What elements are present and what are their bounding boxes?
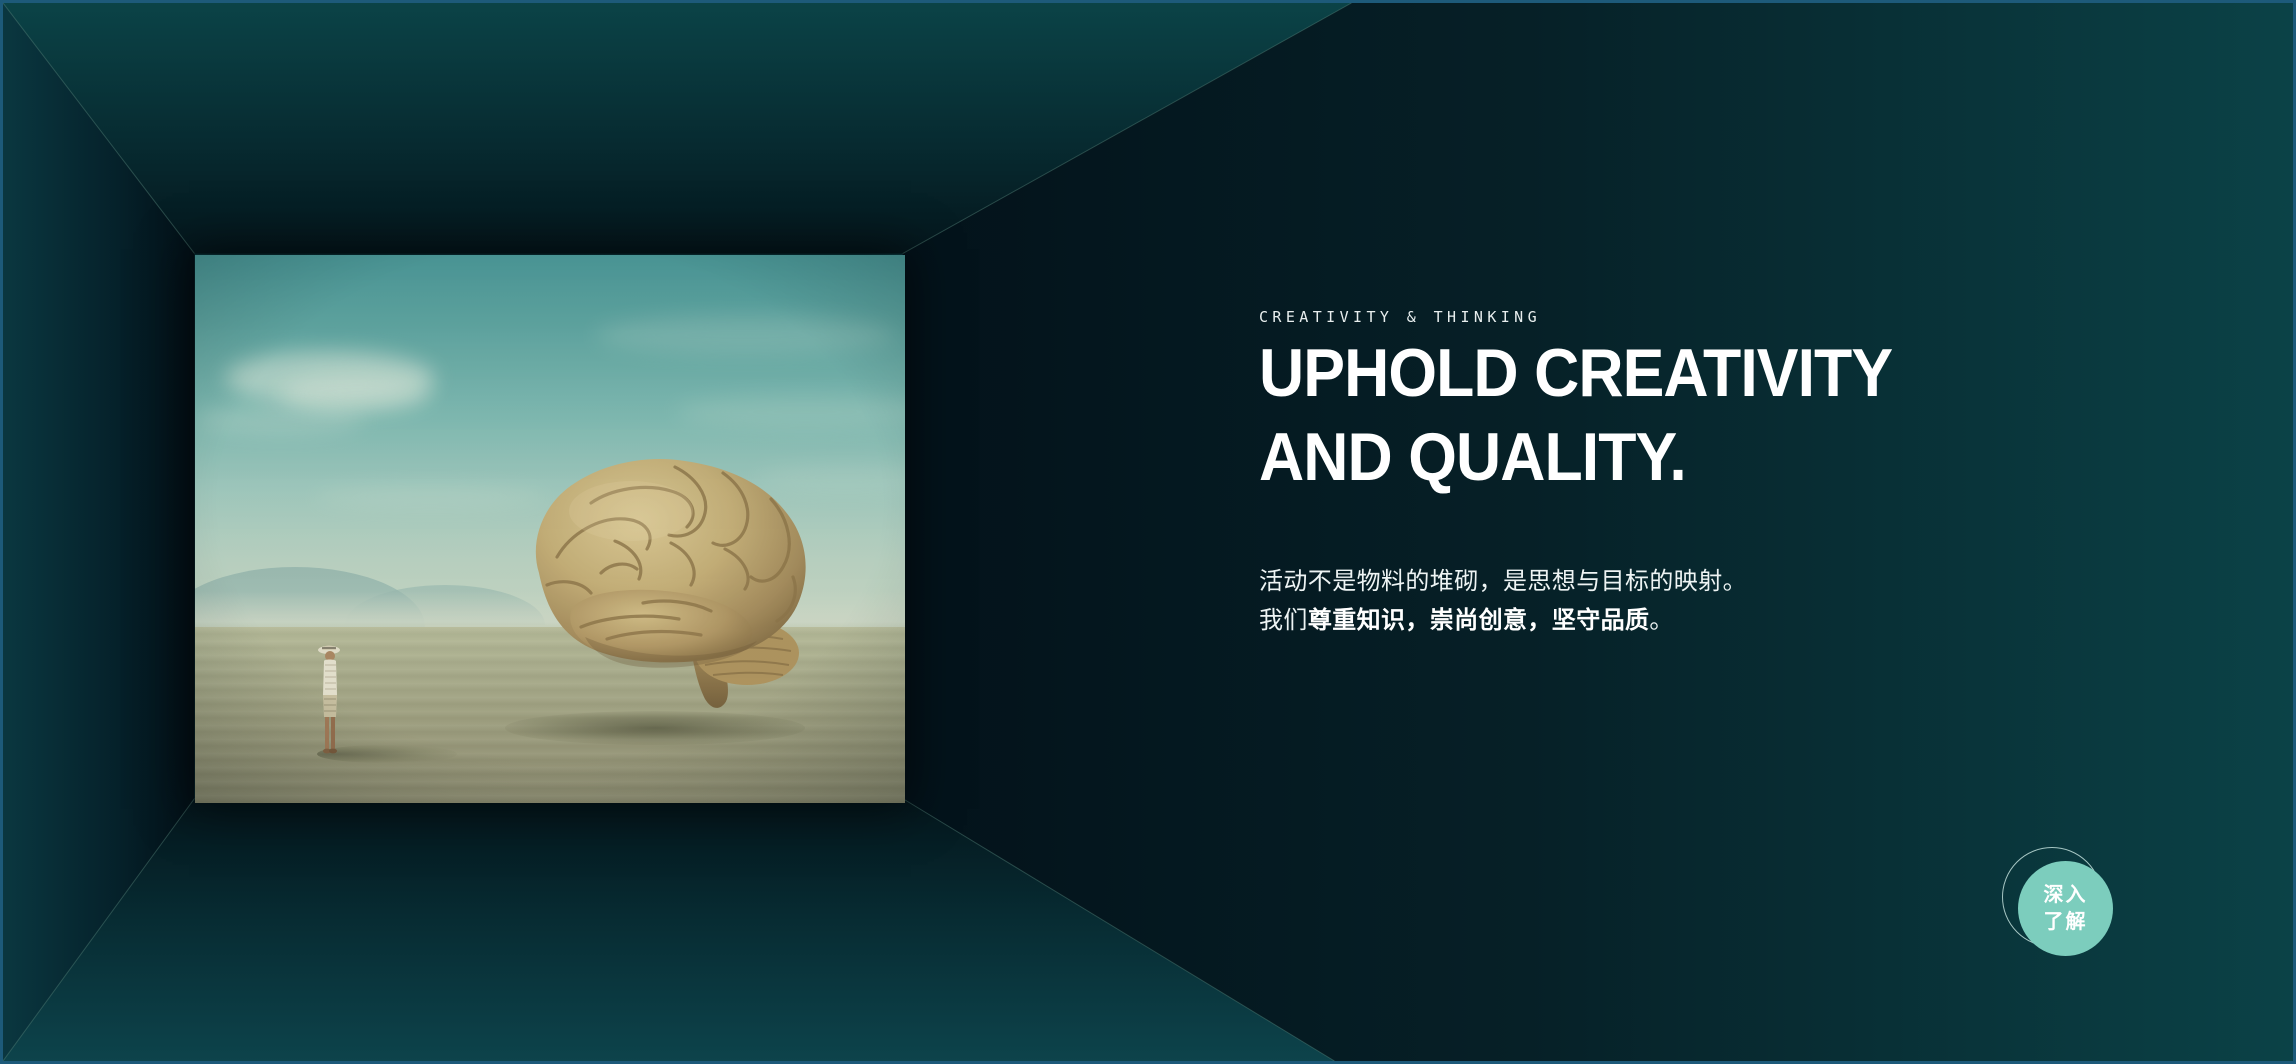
page-title: UPHOLD CREATIVITY AND QUALITY. xyxy=(1259,339,2013,507)
head xyxy=(325,651,335,661)
body-line-2: 我们尊重知识，崇尚创意，坚守品质。 xyxy=(1259,602,1899,641)
body-line-2-prefix: 我们 xyxy=(1259,607,1308,634)
body-line-2-suffix: 。 xyxy=(1649,607,1673,634)
shorts xyxy=(323,695,337,717)
cloud xyxy=(195,405,365,435)
brain-artwork-image xyxy=(195,255,905,803)
headline-line-2: AND QUALITY. xyxy=(1259,423,2013,491)
brain-icon xyxy=(495,437,835,727)
leg xyxy=(331,717,335,749)
eyebrow-text: CREATIVITY & THINKING xyxy=(1259,308,1541,326)
headline-line-1: UPHOLD CREATIVITY xyxy=(1259,339,2013,407)
body-line-1: 活动不是物料的堆砌，是思想与目标的映射。 xyxy=(1259,563,1899,602)
hero-section: CREATIVITY & THINKING UPHOLD CREATIVITY … xyxy=(0,0,2296,1064)
person-icon xyxy=(315,639,345,755)
learn-more-button[interactable]: 深入 了解 xyxy=(1998,843,2130,971)
cta-label-line-2: 了解 xyxy=(2044,909,2088,935)
body-line-2-strong: 尊重知识，崇尚创意，坚守品质 xyxy=(1308,607,1650,634)
leg xyxy=(325,717,329,749)
cta-label-line-1: 深入 xyxy=(2044,882,2088,908)
body-copy: 活动不是物料的堆砌，是思想与目标的映射。 我们尊重知识，崇尚创意，坚守品质。 xyxy=(1259,563,1899,641)
cloud xyxy=(595,315,895,355)
cta-label: 深入 了解 xyxy=(2018,861,2113,956)
